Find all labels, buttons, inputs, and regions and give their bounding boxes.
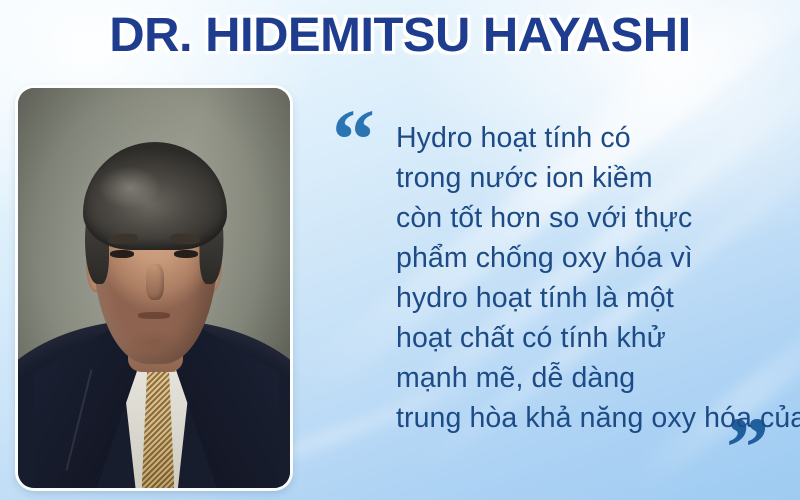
page-title: DR. HIDEMITSU HAYASHI	[0, 8, 800, 63]
quote-line: hoạt chất có tính khử	[396, 318, 796, 358]
quote-line: còn tốt hơn so với thực	[396, 198, 796, 238]
quote-text: Hydro hoạt tính cótrong nước ion kiềmcòn…	[396, 118, 796, 438]
portrait-image	[18, 88, 290, 488]
portrait-nose	[146, 264, 164, 300]
quote-line: phẩm chống oxy hóa vì	[396, 238, 796, 278]
banner-card: DR. HIDEMITSU HAYASHI	[0, 0, 800, 500]
portrait-eye-right	[174, 250, 197, 258]
portrait-photo	[18, 88, 290, 488]
portrait-mouth	[138, 312, 171, 319]
quote-line: trung hòa khả năng oxy hóa của các gốc t…	[396, 398, 796, 438]
portrait-chin-shadow	[127, 330, 181, 354]
quote-line: Hydro hoạt tính có	[396, 118, 796, 158]
quote-line: mạnh mẽ, dễ dàng	[396, 358, 796, 398]
quote-line: trong nước ion kiềm	[396, 158, 796, 198]
quote-line: hydro hoạt tính là một	[396, 278, 796, 318]
portrait-eye-left	[110, 250, 133, 258]
quote-open-icon: “	[332, 96, 375, 182]
